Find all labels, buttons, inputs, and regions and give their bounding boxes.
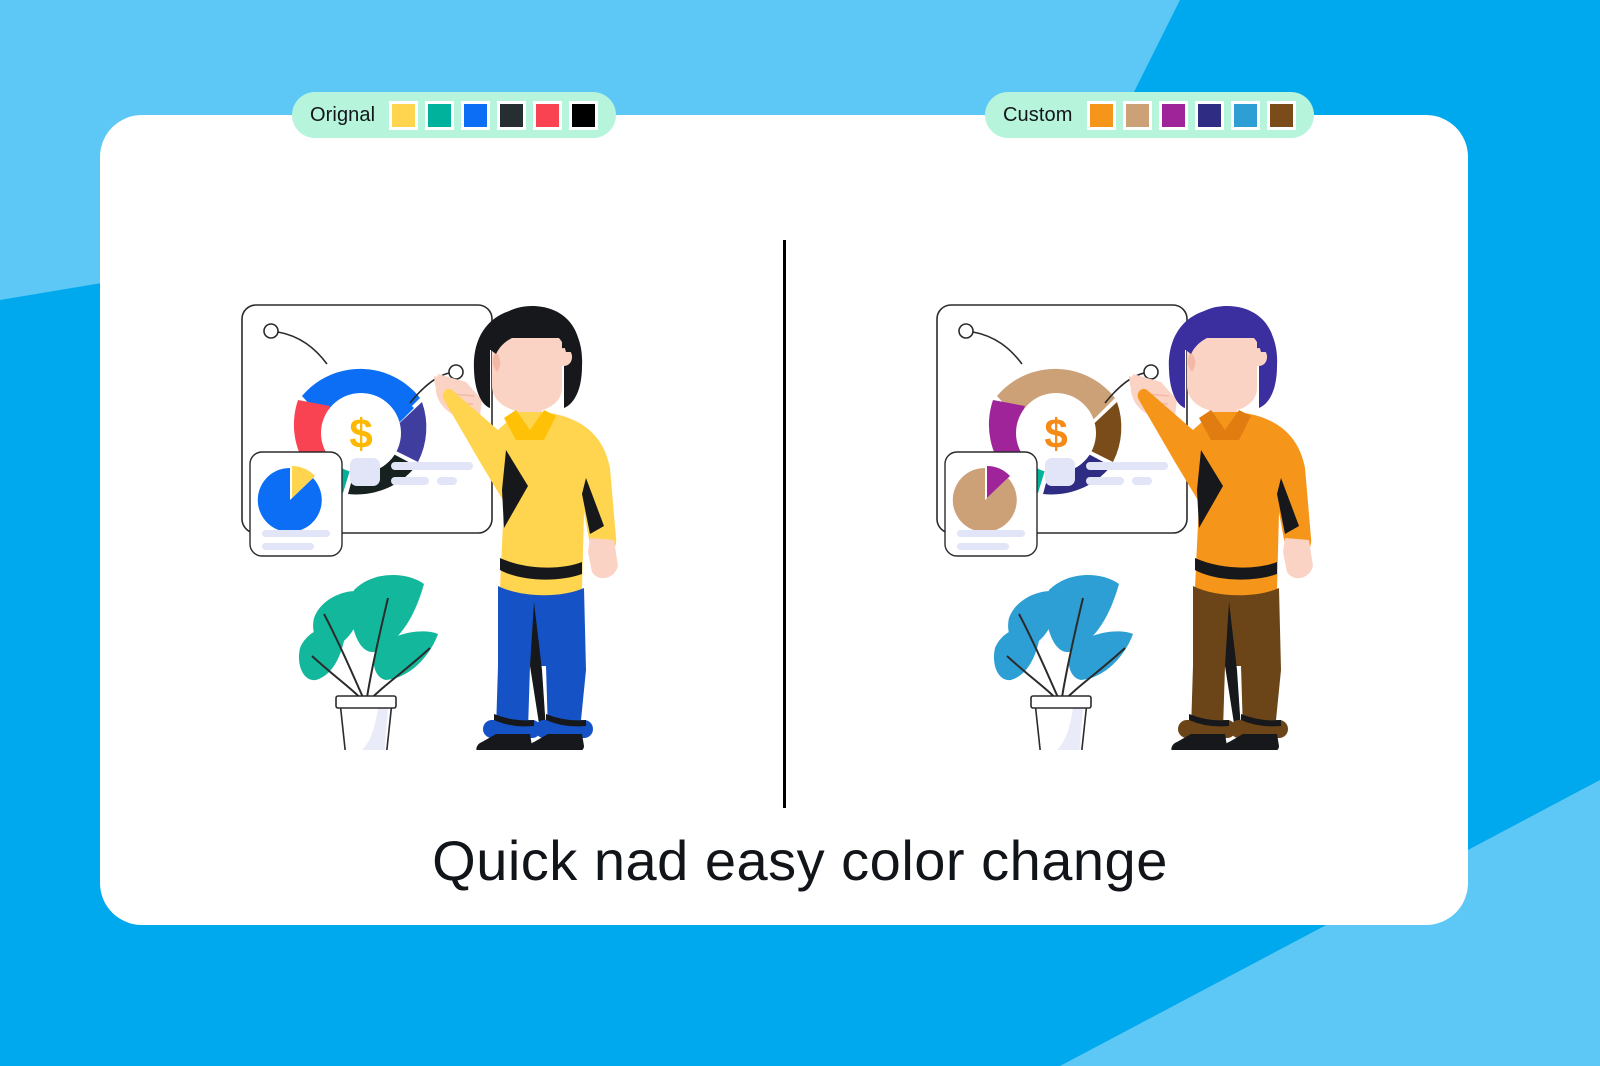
plant-pot-rim — [336, 696, 396, 708]
plant-pot-rim — [1031, 696, 1091, 708]
swatch-custom-0[interactable] — [1087, 101, 1116, 130]
plant-leaf-3 — [994, 626, 1041, 680]
swatch-row-original — [389, 101, 598, 130]
dashboard-placeholder-square — [350, 458, 380, 486]
swatch-custom-1[interactable] — [1123, 101, 1152, 130]
palette-label-original: Orignal — [310, 104, 375, 127]
swatch-color-sky — [1234, 104, 1257, 127]
dashboard-placeholder-bar-1 — [1086, 462, 1168, 470]
palette-badge-original[interactable]: Orignal — [292, 92, 616, 138]
plant-custom — [994, 575, 1133, 750]
palette-badge-custom[interactable]: Custom — [985, 92, 1314, 138]
swatch-row-custom — [1087, 101, 1296, 130]
custom-illustration: $ — [925, 290, 1375, 755]
swatch-custom-3[interactable] — [1195, 101, 1224, 130]
dashboard-placeholder-bar-3 — [1132, 477, 1152, 485]
swatch-color-magenta — [1162, 104, 1185, 127]
original-illustration: $ — [230, 290, 680, 755]
swatch-original-3[interactable] — [497, 101, 526, 130]
person-shoe-left — [1171, 734, 1227, 750]
page-title: Quick nad easy color change — [0, 828, 1600, 893]
swatch-color-teal — [428, 104, 451, 127]
donut-center-symbol: $ — [1044, 410, 1067, 457]
swatch-original-0[interactable] — [389, 101, 418, 130]
dashboard-placeholder-square — [1045, 458, 1075, 486]
swatch-color-yellow — [392, 104, 415, 127]
swatch-color-dark-slate — [500, 104, 523, 127]
dashboard-placeholder-bar-3 — [437, 477, 457, 485]
swatch-color-tan — [1126, 104, 1149, 127]
plant-original — [299, 575, 438, 750]
person-face — [492, 338, 562, 412]
swatch-custom-5[interactable] — [1267, 101, 1296, 130]
swatch-color-brown — [1270, 104, 1293, 127]
mini-card-bar-2 — [957, 543, 1009, 550]
plant-leaf-3 — [299, 626, 346, 680]
swatch-original-1[interactable] — [425, 101, 454, 130]
swatch-color-black — [572, 104, 595, 127]
mini-card — [945, 452, 1037, 556]
mini-card-bar-1 — [262, 530, 330, 537]
swatch-color-orange — [1090, 104, 1113, 127]
dashboard-placeholder-bar-2 — [391, 477, 429, 485]
dashboard-placeholder-bar-2 — [1086, 477, 1124, 485]
palette-label-custom: Custom — [1003, 104, 1073, 127]
swatch-custom-4[interactable] — [1231, 101, 1260, 130]
mini-card-bar-2 — [262, 543, 314, 550]
swatch-color-red — [536, 104, 559, 127]
vertical-divider — [783, 240, 786, 808]
swatch-color-indigo — [1198, 104, 1221, 127]
person-shoe-left — [476, 734, 532, 750]
donut-center-symbol: $ — [349, 410, 372, 457]
swatch-original-2[interactable] — [461, 101, 490, 130]
person-hand-right — [1283, 538, 1313, 578]
person-face — [1187, 338, 1257, 412]
swatch-original-5[interactable] — [569, 101, 598, 130]
person-hand-right — [588, 538, 618, 578]
swatch-original-4[interactable] — [533, 101, 562, 130]
swatch-custom-2[interactable] — [1159, 101, 1188, 130]
mini-card — [250, 452, 342, 556]
dashboard-placeholder-bar-1 — [391, 462, 473, 470]
mini-card-bar-1 — [957, 530, 1025, 537]
swatch-color-blue — [464, 104, 487, 127]
